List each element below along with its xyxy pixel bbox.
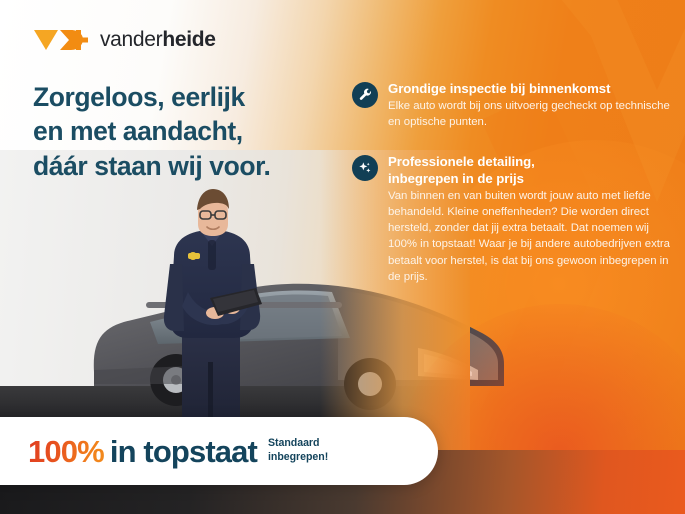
vdh-logo-icon	[33, 27, 89, 52]
feature-title: Grondige inspectie bij binnenkomst	[388, 80, 670, 97]
topstaat-headline: 100% in topstaat	[28, 436, 257, 467]
feature-title: Professionele detailing, inbegrepen in d…	[388, 153, 670, 187]
feature-list: Grondige inspectie bij binnenkomst Elke …	[352, 80, 670, 285]
headline-line-2: en met aandacht,	[33, 114, 353, 148]
headline-line-3: dáár staan wij voor.	[33, 149, 353, 183]
wrench-icon	[352, 82, 378, 108]
feature-body: Elke auto wordt bij ons uitvoerig gechec…	[388, 98, 670, 130]
sparkle-icon	[352, 155, 378, 181]
headline-line-1: Zorgeloos, eerlijk	[33, 80, 353, 114]
topstaat-subtext: Standaard inbegrepen!	[268, 437, 328, 464]
promo-banner: vanderheide Zorgeloos, eerlijk en met aa…	[0, 0, 685, 514]
topstaat-percent: 100%	[28, 436, 110, 467]
feature-item-detailing: Professionele detailing, inbegrepen in d…	[352, 153, 670, 285]
logo-word-light: vander	[100, 28, 162, 51]
vanderheide-logo[interactable]: vanderheide	[33, 27, 216, 52]
topstaat-subtext-line-1: Standaard	[268, 437, 328, 451]
topstaat-badge: 100% in topstaat Standaard inbegrepen!	[0, 417, 438, 485]
topstaat-subtext-line-2: inbegrepen!	[268, 451, 328, 465]
feature-body: Van binnen en van buiten wordt jouw auto…	[388, 188, 670, 285]
headline: Zorgeloos, eerlijk en met aandacht, dáár…	[33, 80, 353, 183]
logo-wordmark: vanderheide	[100, 29, 216, 50]
technician-illustration	[148, 184, 278, 424]
feature-title-line-1: Professionele detailing,	[388, 153, 670, 170]
feature-title-line-2: inbegrepen in de prijs	[388, 170, 670, 187]
topstaat-label: in topstaat	[110, 436, 257, 467]
feature-item-inspection: Grondige inspectie bij binnenkomst Elke …	[352, 80, 670, 131]
logo-word-bold: heide	[162, 28, 215, 51]
